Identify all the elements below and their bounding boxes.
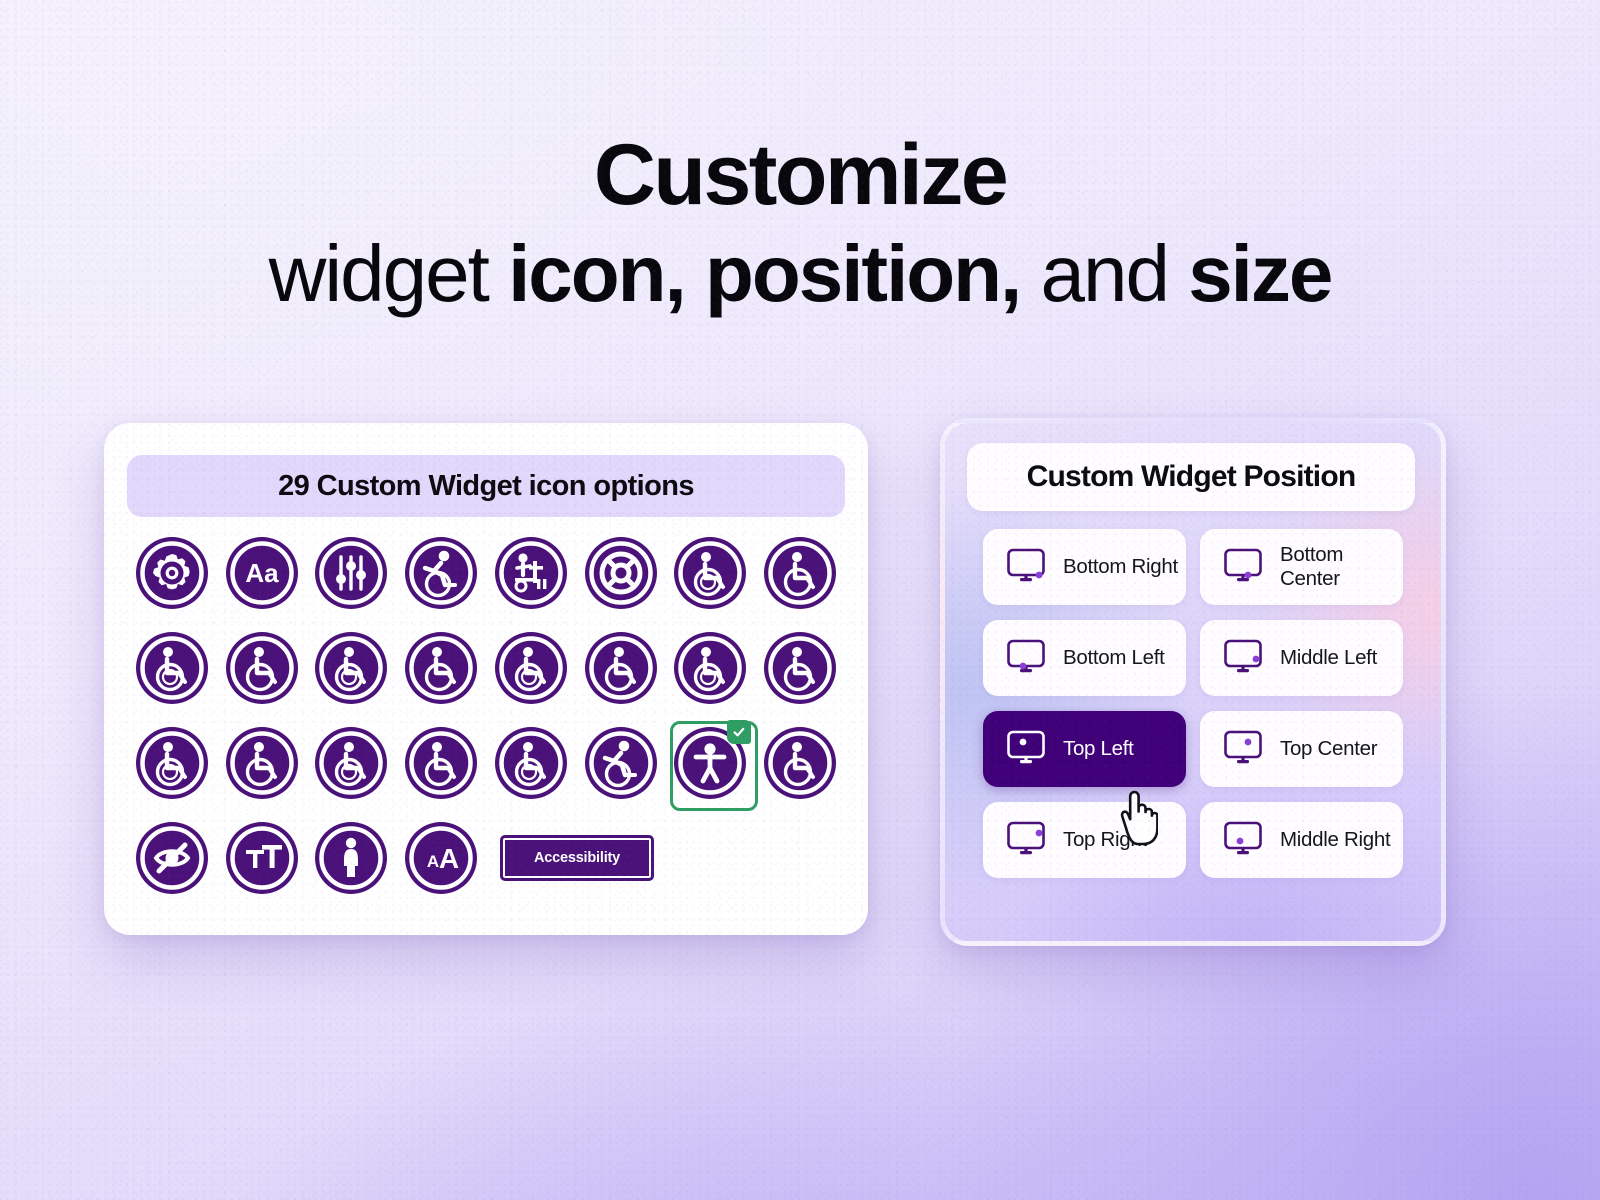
subtitle-fragment: icon, position, — [508, 229, 1020, 318]
position-option-middle-right[interactable]: Middle Right — [1200, 802, 1403, 878]
subtitle-fragment: widget — [269, 229, 508, 318]
icon-options-grid: Aa — [127, 535, 845, 896]
widget-position-panel: Custom Widget Position Bottom Right Bott… — [940, 418, 1446, 946]
wheelchair-icon-16[interactable] — [762, 725, 838, 801]
position-option-middle-left[interactable]: Middle Left — [1200, 620, 1403, 696]
widget-position-title: Custom Widget Position — [1027, 460, 1356, 494]
wheelchair-icon-15[interactable] — [493, 725, 569, 801]
position-option-label: Top Center — [1280, 737, 1377, 761]
wheelchair-icon-9[interactable] — [672, 630, 748, 706]
universal-access-person-icon[interactable] — [672, 725, 748, 801]
accessibility-button-label: Accessibility — [534, 850, 620, 866]
wheelchair-icon-6[interactable] — [403, 630, 479, 706]
wheelchair-icon-5[interactable] — [313, 630, 389, 706]
position-option-label: Top Left — [1063, 737, 1134, 761]
position-option-bottom-center[interactable]: Bottom Center — [1200, 529, 1403, 605]
position-option-label: Bottom Left — [1063, 646, 1165, 670]
monitor-position-icon — [1003, 818, 1049, 863]
monitor-position-icon — [1220, 818, 1266, 863]
widget-position-grid: Bottom Right Bottom Center Bottom Left M… — [983, 529, 1403, 878]
accessibility-button-cell: Accessibility — [500, 820, 654, 896]
position-option-bottom-left[interactable]: Bottom Left — [983, 620, 1186, 696]
icon-options-title: 29 Custom Widget icon options — [278, 470, 694, 503]
wheelchair-icon-4[interactable] — [224, 630, 300, 706]
text-tt-icon[interactable] — [224, 820, 300, 896]
icon-options-header: 29 Custom Widget icon options — [127, 455, 845, 517]
position-option-bottom-right[interactable]: Bottom Right — [983, 529, 1186, 605]
wheelchair-motion-icon-2[interactable] — [583, 725, 659, 801]
page-title: Customize — [0, 132, 1600, 218]
position-option-top-left[interactable]: Top Left — [983, 711, 1186, 787]
accessibility-button[interactable]: Accessibility — [500, 835, 654, 881]
position-option-label: Bottom Right — [1063, 555, 1178, 579]
sliders-icon[interactable] — [313, 535, 389, 611]
position-option-top-right[interactable]: Top Right — [983, 802, 1186, 878]
widget-position-header: Custom Widget Position — [967, 443, 1415, 511]
monitor-position-icon — [1220, 727, 1266, 772]
svg-text:Aa: Aa — [245, 558, 279, 588]
gear-icon[interactable] — [134, 535, 210, 611]
subtitle-fragment: and — [1020, 229, 1188, 318]
text-size-aa-icon[interactable]: Aa — [224, 535, 300, 611]
wheelchair-icon-10[interactable] — [762, 630, 838, 706]
wheelchair-motion-icon[interactable] — [403, 535, 479, 611]
svg-text:A: A — [439, 843, 459, 874]
wheelchair-icon-7[interactable] — [493, 630, 569, 706]
text-size-aa-large-icon[interactable]: A A — [403, 820, 479, 896]
svg-text:A: A — [427, 852, 439, 871]
wheelchair-icon-14[interactable] — [403, 725, 479, 801]
lifebuoy-icon[interactable] — [583, 535, 659, 611]
monitor-position-icon — [1220, 545, 1266, 590]
wheelchair-icon-13[interactable] — [313, 725, 389, 801]
wheelchair-icon-11[interactable] — [134, 725, 210, 801]
position-option-label: Middle Left — [1280, 646, 1377, 670]
position-option-label: Top Right — [1063, 828, 1147, 852]
position-option-label: Bottom Center — [1280, 543, 1403, 591]
subtitle-fragment: size — [1188, 229, 1331, 318]
wheelchair-icon-2[interactable] — [762, 535, 838, 611]
wheelchair-icon-3[interactable] — [134, 630, 210, 706]
wheelchair-icon-8[interactable] — [583, 630, 659, 706]
icon-options-card: 29 Custom Widget icon options Aa — [104, 423, 868, 935]
monitor-position-icon — [1003, 727, 1049, 772]
person-icon[interactable] — [313, 820, 389, 896]
selected-check-icon — [727, 720, 751, 744]
wheelchair-icon-12[interactable] — [224, 725, 300, 801]
monitor-position-icon — [1220, 636, 1266, 681]
person-at-desk-icon[interactable] — [493, 535, 569, 611]
position-option-label: Middle Right — [1280, 828, 1390, 852]
page-subtitle: widget icon, position, and size — [0, 232, 1600, 316]
wheelchair-icon-1[interactable] — [672, 535, 748, 611]
position-option-top-center[interactable]: Top Center — [1200, 711, 1403, 787]
eye-off-icon[interactable] — [134, 820, 210, 896]
headline-block: Customize widget icon, position, and siz… — [0, 132, 1600, 316]
monitor-position-icon — [1003, 545, 1049, 590]
monitor-position-icon — [1003, 636, 1049, 681]
